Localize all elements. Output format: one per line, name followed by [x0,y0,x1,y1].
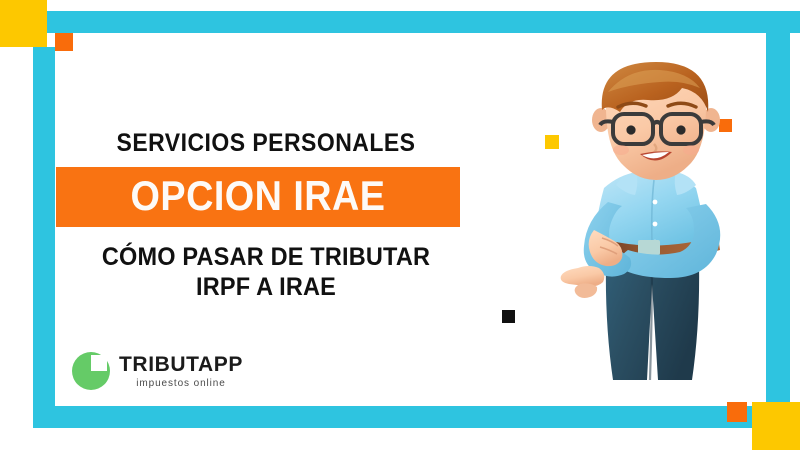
black-square-middle [502,310,515,323]
slide-canvas: SERVICIOS PERSONALES OPCION IRAE CÓMO PA… [0,0,800,450]
headline-text: OPCION IRAE [85,175,431,217]
cyan-bar-left [33,47,55,428]
subheadline-line-2: IRPF A IRAE [69,273,464,303]
orange-square-top-left [55,33,73,51]
yellow-square-middle [545,135,559,149]
subheadline-line-1: CÓMO PASAR DE TRIBUTAR [69,243,464,273]
brand-logo: TRIBUTAPP impuestos online [72,352,243,390]
title-block: SERVICIOS PERSONALES OPCION IRAE CÓMO PA… [56,130,476,302]
subheadline: CÓMO PASAR DE TRIBUTAR IRPF A IRAE [69,243,464,302]
brand-tagline: impuestos online [119,378,243,389]
3d-man-pointing-icon [560,62,760,410]
pie-chart-icon [72,352,110,390]
cyan-bar-right [766,33,790,402]
eyebrow-text: SERVICIOS PERSONALES [73,130,459,156]
cyan-bar-top [47,11,800,33]
headline-band: OPCION IRAE [56,167,460,227]
yellow-square-top-left [0,0,47,47]
brand-name: TRIBUTAPP [119,354,243,375]
